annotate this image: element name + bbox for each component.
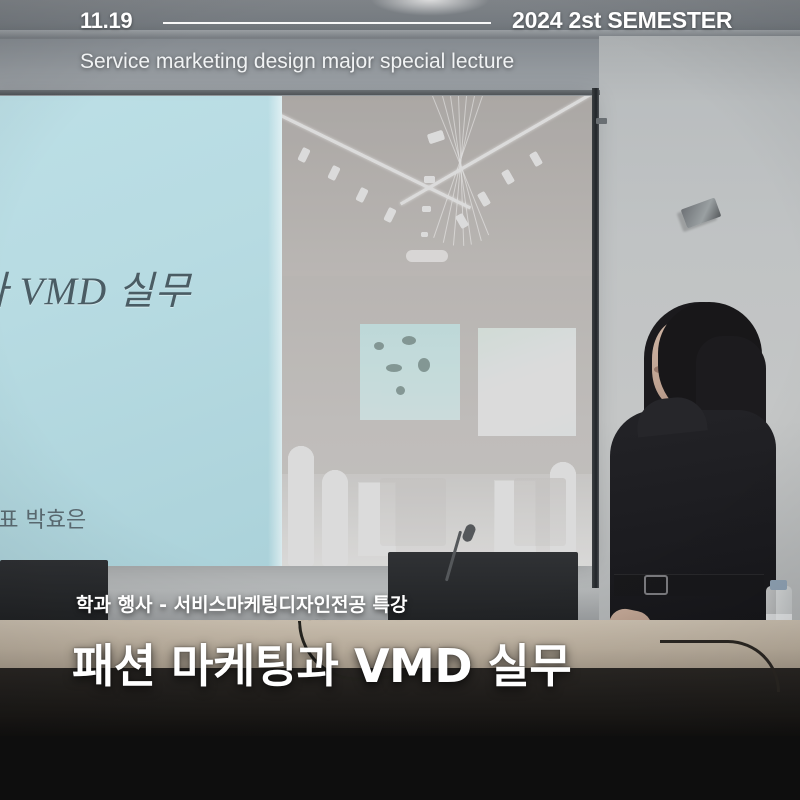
slide-left-panel: 가 VMD 실무 대표 박효은 <box>0 96 282 566</box>
art-motif <box>396 386 405 395</box>
projection-screen: 가 VMD 실무 대표 박효은 <box>0 96 594 566</box>
art-motif <box>402 336 416 345</box>
art-motif <box>374 342 384 350</box>
pendant-light <box>421 232 428 237</box>
overlay-subtitle: 학과 행사 - 서비스마케팅디자인전공 특강 <box>76 590 408 617</box>
bottom-bar: /MARKETING&SERVICE DESIGN /DAEGU UNIV. <box>0 736 800 800</box>
green-display-panel <box>478 328 576 436</box>
screen-top-edge <box>0 90 600 95</box>
slide-store-photo <box>282 96 594 566</box>
header-divider-rule <box>163 22 491 24</box>
water-bottle-cap <box>770 580 787 590</box>
overlay-title: 패션 마케팅과 VMD 실무 <box>72 630 571 696</box>
backwall-artwork <box>360 324 460 420</box>
art-motif <box>418 358 430 372</box>
slide-title-text: 가 VMD 실무 <box>0 260 192 316</box>
header-lecture-line: Service marketing design major special l… <box>80 50 514 74</box>
screen-right-edge <box>592 88 599 588</box>
art-motif <box>386 364 402 372</box>
header-semester: 2024 2st SEMESTER <box>512 7 732 34</box>
pendant-light <box>422 206 431 212</box>
store-ceiling <box>282 96 594 276</box>
presenter-belt <box>614 574 764 596</box>
chandelier <box>406 250 448 262</box>
header-date: 11.19 <box>80 8 132 34</box>
slide-presenter-text: 대표 박효은 <box>0 502 86 534</box>
presenter-belt-buckle <box>644 575 668 595</box>
screen-tab <box>596 118 607 124</box>
lecture-video-card: 가 VMD 실무 대표 박효은 <box>0 0 800 800</box>
lecture-room-photo: 가 VMD 실무 대표 박효은 <box>0 0 800 736</box>
